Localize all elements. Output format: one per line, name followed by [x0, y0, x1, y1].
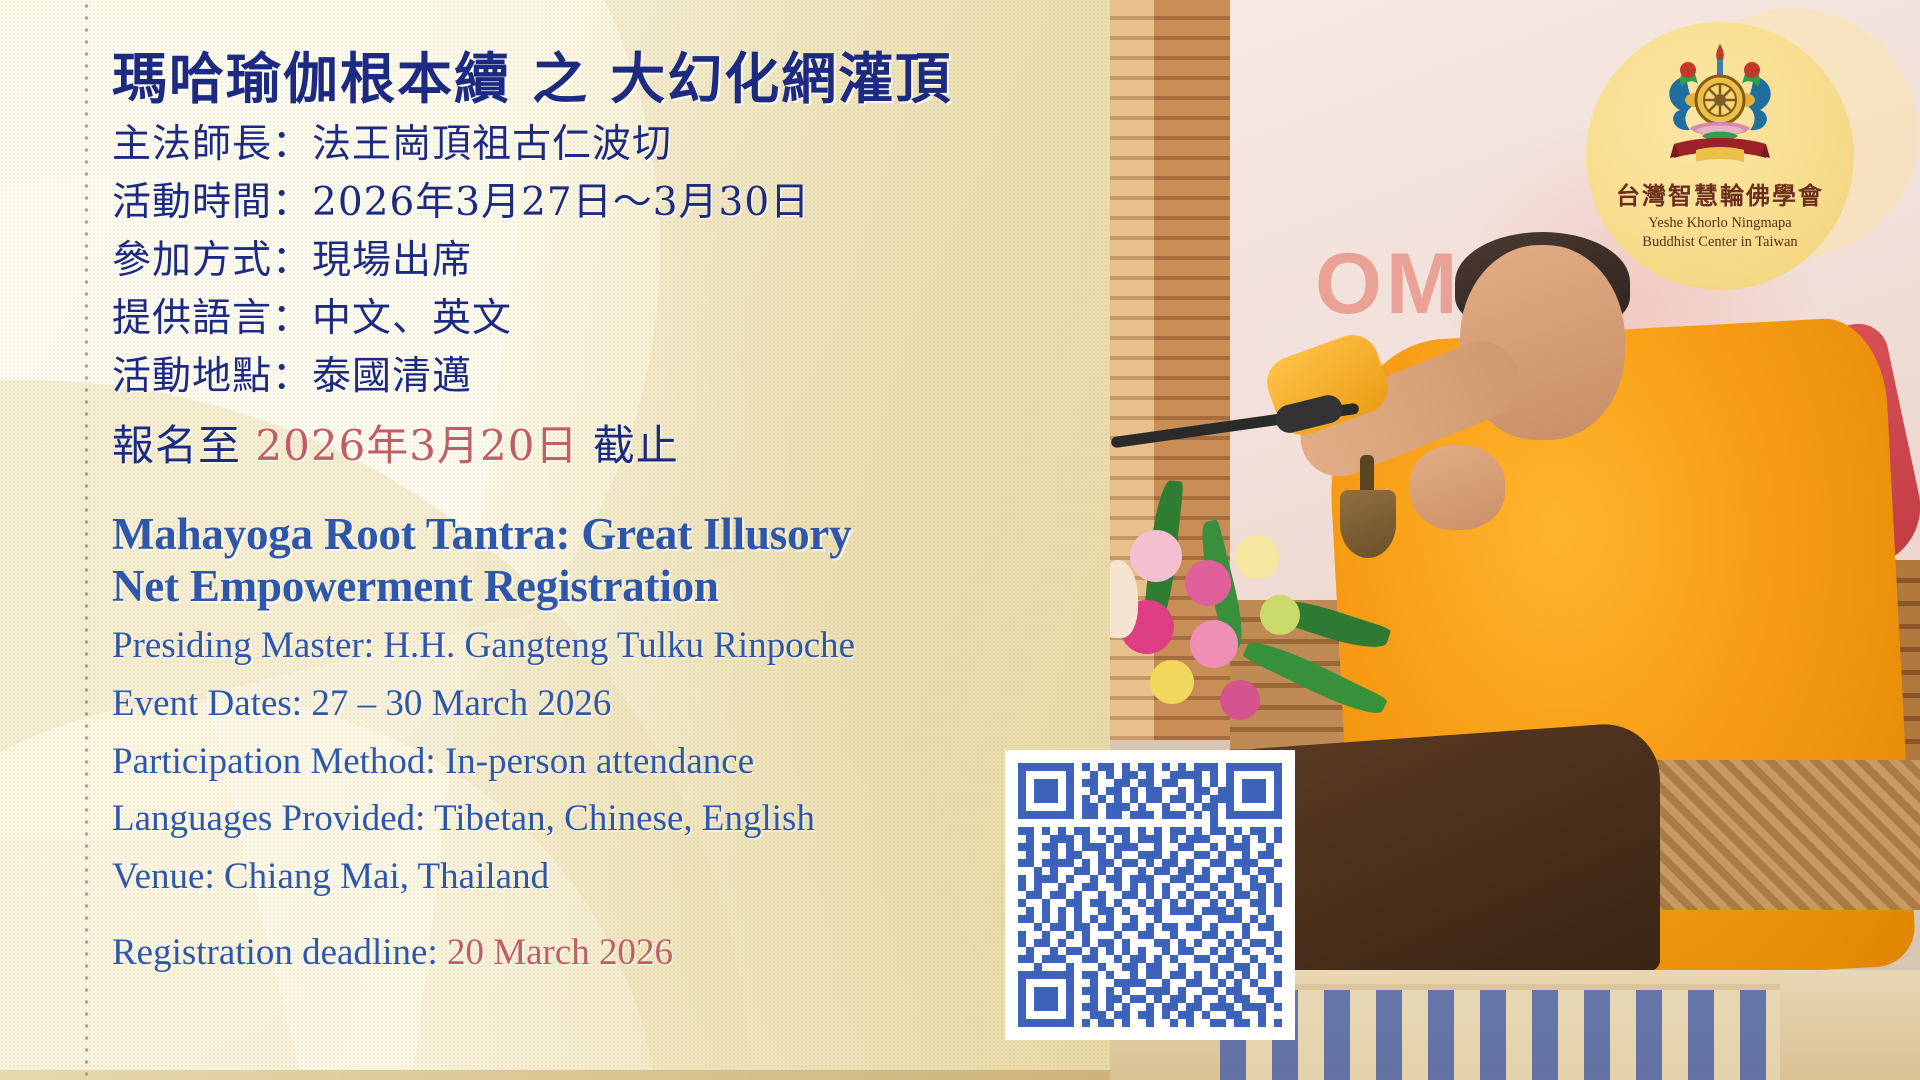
photo-projected-text: OM: [1315, 235, 1462, 334]
chinese-line-languages: 提供語言：中文、英文: [112, 296, 1012, 342]
poster-canvas: OM: [0, 0, 1920, 1080]
chinese-deadline: 報名至 2026年3月20日 截止: [112, 422, 1012, 470]
english-line-event-dates: Event Dates: 27 – 30 March 2026: [112, 681, 1012, 728]
english-line-languages: Languages Provided: Tibetan, Chinese, En…: [112, 796, 1012, 843]
english-line-participation: Participation Method: In-person attendan…: [112, 739, 1012, 786]
chinese-deadline-prefix: 報名至: [112, 421, 241, 470]
chinese-line-presiding-master: 主法師長：法王崗頂祖古仁波切: [112, 122, 1012, 168]
organization-logo: 台灣智慧輪佛學會 Yeshe Khorlo Ningmapa Buddhist …: [1586, 22, 1854, 290]
dharma-wheel-emblem-icon: [1650, 40, 1790, 172]
chinese-deadline-date: 2026年3月20日: [255, 421, 578, 470]
photo-hand: [1410, 445, 1505, 530]
english-deadline: Registration deadline: 20 March 2026: [112, 930, 1012, 977]
poster-text-content: 瑪哈瑜伽根本續 之 大幻化網灌頂 主法師長：法王崗頂祖古仁波切 活動時間：202…: [112, 0, 1012, 977]
english-title: Mahayoga Root Tantra: Great Illusory Net…: [112, 508, 902, 612]
qr-code-icon[interactable]: [1018, 763, 1282, 1027]
perforation-dotted-line: [84, 0, 89, 1080]
chinese-line-event-dates: 活動時間：2026年3月27日～3月30日: [112, 180, 1012, 226]
logo-chinese-name: 台灣智慧輪佛學會: [1616, 176, 1824, 211]
chinese-title: 瑪哈瑜伽根本續 之 大幻化網灌頂: [112, 48, 1012, 110]
english-deadline-prefix: Registration deadline:: [112, 932, 438, 973]
bottom-accent-bar: [0, 1070, 1110, 1080]
registration-qr-code[interactable]: [1005, 750, 1295, 1040]
chinese-line-participation: 參加方式：現場出席: [112, 238, 1012, 284]
english-line-venue: Venue: Chiang Mai, Thailand: [112, 854, 1012, 901]
logo-english-name: Yeshe Khorlo Ningmapa Buddhist Center in…: [1642, 214, 1797, 251]
chinese-line-venue: 活動地點：泰國清邁: [112, 354, 1012, 400]
english-line-presiding-master: Presiding Master: H.H. Gangteng Tulku Ri…: [112, 623, 1012, 670]
photo-altar-cloth-pattern: [1220, 984, 1780, 1080]
logo-english-line1: Yeshe Khorlo Ningmapa: [1642, 214, 1797, 233]
english-deadline-date: 20 March 2026: [447, 932, 673, 973]
logo-english-line2: Buddhist Center in Taiwan: [1642, 233, 1797, 252]
chinese-deadline-suffix: 截止: [593, 421, 679, 470]
